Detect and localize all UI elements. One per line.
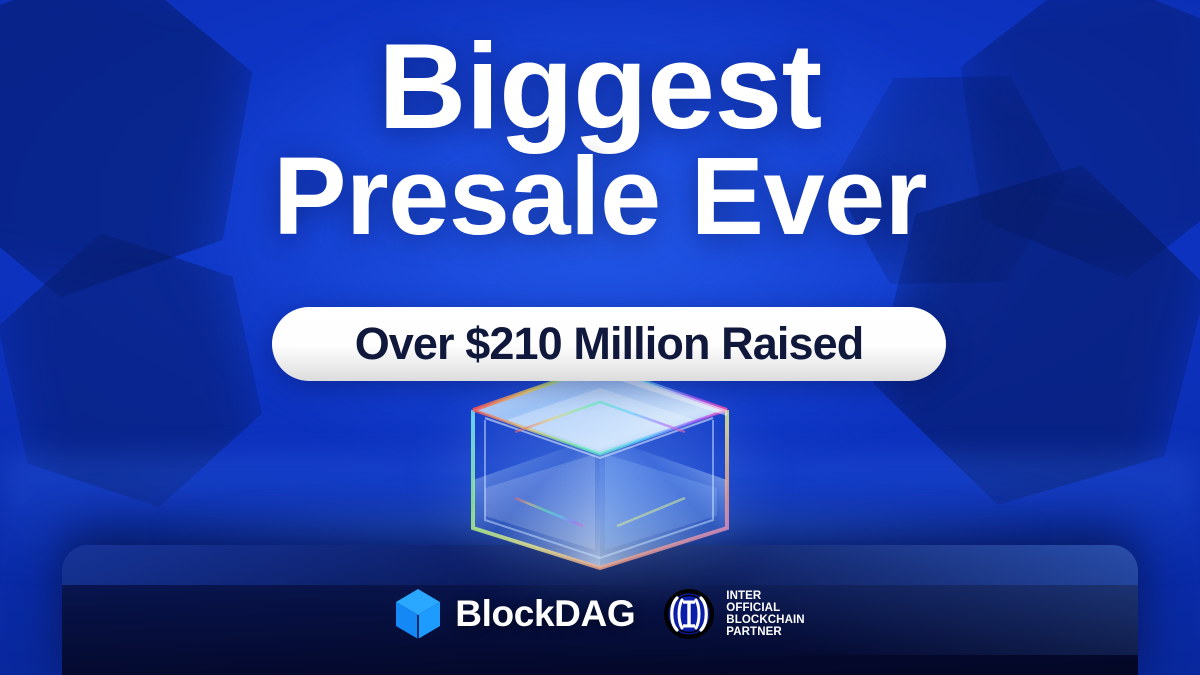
partner-line-4: PARTNER bbox=[726, 626, 804, 638]
inter-partner-logo[interactable]: INTER OFFICIAL BLOCKCHAIN PARTNER bbox=[663, 588, 804, 640]
blockdag-cube-icon bbox=[395, 588, 441, 640]
logo-row: BlockDAG INTER OFFICIAL BLOCKCHAIN PARTN… bbox=[0, 588, 1200, 640]
raised-amount-text: Over $210 Million Raised bbox=[355, 318, 864, 370]
headline: Biggest Presale Ever bbox=[0, 30, 1200, 247]
partner-line-1: INTER bbox=[726, 590, 804, 602]
promo-banner: Biggest Presale Ever Over $210 Million R… bbox=[0, 0, 1200, 675]
blockdag-wordmark: BlockDAG bbox=[455, 593, 635, 635]
inter-milan-crest-icon bbox=[663, 588, 715, 640]
partner-line-3: BLOCKCHAIN bbox=[726, 614, 804, 626]
inter-partner-text: INTER OFFICIAL BLOCKCHAIN PARTNER bbox=[726, 590, 804, 639]
headline-line-1: Biggest bbox=[0, 30, 1200, 142]
blockdag-logo[interactable]: BlockDAG bbox=[395, 588, 635, 640]
partner-line-2: OFFICIAL bbox=[726, 602, 804, 614]
headline-line-2: Presale Ever bbox=[0, 146, 1200, 247]
glass-cube bbox=[455, 358, 745, 583]
raised-amount-badge: Over $210 Million Raised bbox=[272, 307, 946, 381]
